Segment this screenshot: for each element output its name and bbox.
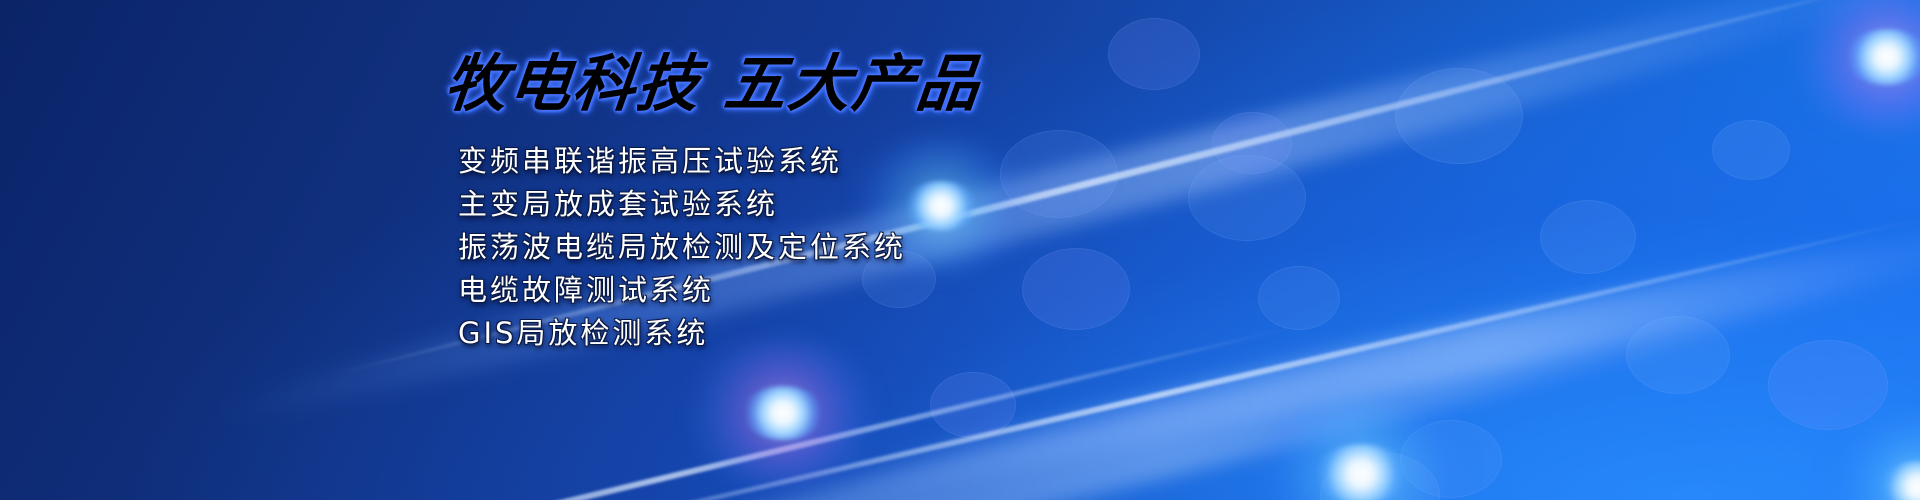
product-list-item: 主变局放成套试验系统 — [458, 183, 906, 226]
product-list-item: 变频串联谐振高压试验系统 — [458, 140, 906, 183]
promo-banner: 牧电科技 五大产品 变频串联谐振高压试验系统 主变局放成套试验系统 振荡波电缆局… — [0, 0, 1920, 500]
product-list-item: 振荡波电缆局放检测及定位系统 — [458, 226, 906, 269]
banner-title: 牧电科技 五大产品 — [441, 48, 984, 120]
product-list: 变频串联谐振高压试验系统 主变局放成套试验系统 振荡波电缆局放检测及定位系统 电… — [458, 140, 906, 355]
product-list-item: GIS局放检测系统 — [458, 312, 906, 355]
product-list-item: 电缆故障测试系统 — [458, 269, 906, 312]
banner-content: 牧电科技 五大产品 变频串联谐振高压试验系统 主变局放成套试验系统 振荡波电缆局… — [0, 0, 1920, 500]
